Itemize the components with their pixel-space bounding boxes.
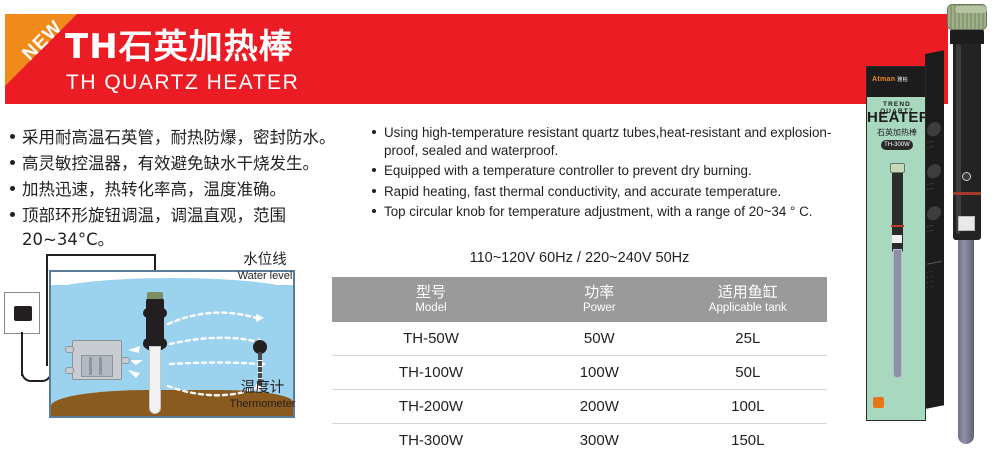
page-title-cn: TH石英加热棒 bbox=[65, 30, 294, 64]
filter-suction-cup bbox=[65, 346, 74, 353]
hero-heating-element bbox=[958, 236, 974, 444]
box-side-divider bbox=[927, 261, 942, 265]
power-cord-horizontal bbox=[46, 254, 156, 256]
cell-tank: 25L bbox=[669, 322, 827, 356]
power-cord-riser bbox=[46, 254, 48, 366]
water-level-label: 水位线 Water level bbox=[215, 252, 315, 283]
filter-outlet-nozzle bbox=[121, 357, 130, 364]
thermometer-tick bbox=[257, 360, 263, 361]
table-header-row: 型号 Model 功率 Power 适用鱼缸 Applicable tank bbox=[332, 277, 827, 322]
cell-power: 100W bbox=[530, 356, 669, 390]
cell-power: 300W bbox=[530, 424, 669, 458]
thermometer-label: 温度计 Thermometer bbox=[205, 380, 320, 411]
brand-logo: Atman雅柏 bbox=[872, 76, 908, 83]
hero-neck bbox=[950, 28, 984, 44]
heater-rod-knob bbox=[147, 292, 163, 299]
cell-power: 50W bbox=[530, 322, 669, 356]
column-header-power: 功率 Power bbox=[530, 277, 669, 322]
column-header-model-en: Model bbox=[332, 301, 530, 315]
header-banner: NEW TH石英加热棒 TH QUARTZ HEATER bbox=[5, 14, 948, 104]
table-row: TH-200W 200W 100L bbox=[332, 390, 827, 424]
hero-indicator-light bbox=[962, 172, 971, 181]
thermometer-tick bbox=[257, 378, 263, 379]
cell-model: TH-50W bbox=[332, 322, 530, 356]
feature-item: 加热迅速，热转化率高，温度准确。 bbox=[8, 178, 358, 202]
box-seal-sticker bbox=[873, 397, 884, 408]
column-header-power-en: Power bbox=[530, 301, 669, 315]
box-side-text: ·········· bbox=[927, 137, 942, 150]
product-package-box: ·········· ·········· ·········· · · ·· … bbox=[866, 66, 944, 421]
cell-model: TH-100W bbox=[332, 356, 530, 390]
aquarium-illustration: 水位线 Water level 温度计 Thermometer bbox=[0, 252, 320, 442]
features-list-en: Using high-temperature resistant quartz … bbox=[370, 124, 840, 224]
power-cord-loop bbox=[21, 364, 52, 382]
heater-quartz-tube bbox=[149, 346, 161, 414]
hero-red-ring bbox=[953, 192, 981, 195]
box-side-photo bbox=[927, 163, 941, 180]
cell-tank: 100L bbox=[669, 390, 827, 424]
cell-power: 200W bbox=[530, 390, 669, 424]
feature-item: 采用耐高温石英管，耐热防爆，密封防水。 bbox=[8, 126, 358, 150]
cell-model: TH-300W bbox=[332, 424, 530, 458]
page-title-en: TH QUARTZ HEATER bbox=[66, 72, 299, 93]
cell-tank: 150L bbox=[669, 424, 827, 458]
feature-item: Rapid heating, fast thermal conductivity… bbox=[370, 183, 840, 201]
box-side-photo bbox=[927, 205, 941, 222]
box-rod-quartz-tube bbox=[893, 249, 902, 378]
feature-item: 顶部环形旋钮调温，调温直观，范围20~34°C。 bbox=[8, 204, 358, 251]
outlet-socket bbox=[14, 306, 32, 321]
box-header-strip: Atman雅柏 bbox=[867, 67, 926, 97]
cell-model: TH-200W bbox=[332, 390, 530, 424]
filter-suction-cup bbox=[65, 367, 74, 374]
filter-body bbox=[81, 355, 113, 377]
feature-item: Equipped with a temperature controller t… bbox=[370, 162, 840, 180]
filter-slat bbox=[99, 357, 102, 375]
box-side-text: ·········· bbox=[927, 179, 942, 192]
water-level-label-en: Water level bbox=[215, 269, 315, 283]
table-row: TH-100W 100W 50L bbox=[332, 356, 827, 390]
thermometer-tick bbox=[257, 366, 263, 367]
box-rod-red-ring bbox=[891, 225, 904, 227]
cell-tank: 50L bbox=[669, 356, 827, 390]
box-product-name-en: HEATER bbox=[867, 109, 926, 126]
hero-knob-top bbox=[955, 6, 987, 13]
features-list-cn: 采用耐高温石英管，耐热防爆，密封防水。 高灵敏控温器，有效避免缺水干烧发生。 加… bbox=[8, 126, 358, 254]
box-side-panel: ·········· ·········· ·········· · · ·· … bbox=[925, 50, 944, 409]
feature-item: 高灵敏控温器，有效避免缺水干烧发生。 bbox=[8, 152, 358, 176]
table-row: TH-50W 50W 25L bbox=[332, 322, 827, 356]
column-header-tank-cn: 适用鱼缸 bbox=[669, 283, 827, 301]
thermometer-label-en: Thermometer bbox=[205, 397, 320, 411]
box-model-badge: TH-300W bbox=[881, 140, 913, 150]
column-header-tank-en: Applicable tank bbox=[669, 301, 827, 315]
power-outlet-icon bbox=[4, 292, 40, 334]
heater-rod-collar bbox=[143, 308, 167, 318]
voltage-label: 110~120V 60Hz / 220~240V 50Hz bbox=[332, 250, 827, 266]
column-header-model: 型号 Model bbox=[332, 277, 530, 322]
box-rod-label bbox=[892, 235, 902, 243]
brand-logo-cn: 雅柏 bbox=[897, 77, 908, 83]
filter-pump-icon bbox=[72, 340, 122, 380]
feature-item: Using high-temperature resistant quartz … bbox=[370, 124, 840, 159]
box-side-text: ·········· bbox=[927, 221, 942, 234]
filter-slat bbox=[89, 357, 92, 375]
feature-item: Top circular knob for temperature adjust… bbox=[370, 203, 840, 221]
box-front-panel: Atman雅柏 TREND QUARTZ HEATER 石英加热棒 TH-300… bbox=[866, 66, 926, 421]
column-header-power-cn: 功率 bbox=[530, 283, 669, 301]
specification-table: 型号 Model 功率 Power 适用鱼缸 Applicable tank T… bbox=[332, 277, 827, 457]
hero-temperature-knob bbox=[947, 4, 987, 30]
column-header-model-cn: 型号 bbox=[332, 283, 530, 301]
box-rod-knob bbox=[890, 163, 905, 173]
box-side-specs: · · ·· · ·· · ·· · · bbox=[927, 267, 942, 290]
thermometer-tick bbox=[257, 372, 263, 373]
thermometer-label-cn: 温度计 bbox=[205, 380, 320, 397]
box-product-photo bbox=[889, 163, 906, 378]
hero-body-highlight bbox=[956, 44, 961, 234]
brand-logo-text: Atman bbox=[872, 76, 895, 83]
column-header-tank: 适用鱼缸 Applicable tank bbox=[669, 277, 827, 322]
table-row: TH-300W 300W 150L bbox=[332, 424, 827, 458]
box-product-name-cn: 石英加热棒 bbox=[867, 127, 926, 138]
heater-rod-in-tank bbox=[143, 292, 167, 414]
hero-white-label bbox=[958, 216, 975, 231]
heater-product-photo bbox=[944, 4, 990, 460]
box-side-photo bbox=[927, 121, 941, 138]
water-level-label-cn: 水位线 bbox=[215, 252, 315, 269]
